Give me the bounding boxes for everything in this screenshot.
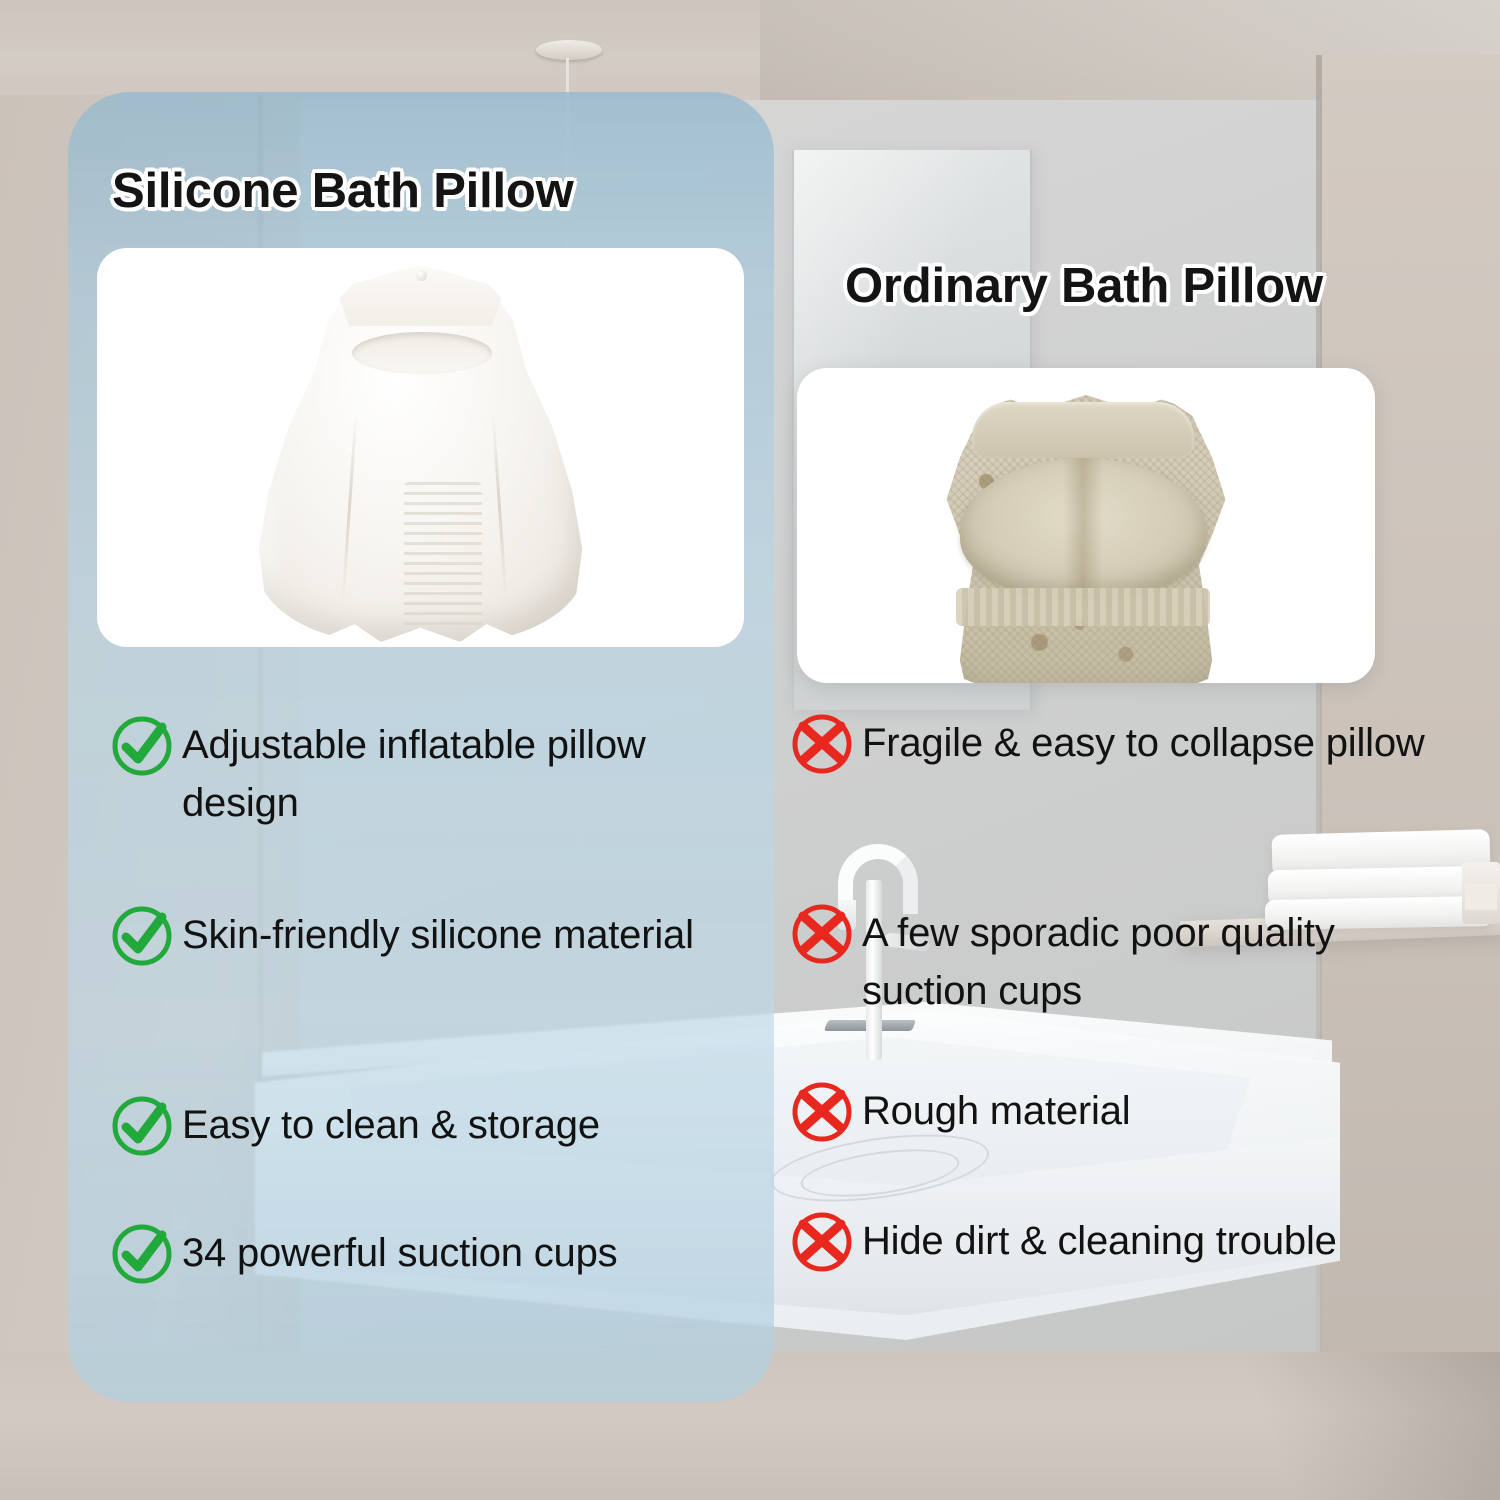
floor-shadow	[1180, 1352, 1500, 1500]
list-item: Adjustable inflatable pillow design	[108, 716, 748, 832]
silicone-pillow-photo-card	[97, 248, 744, 647]
pillow-air-valve	[416, 270, 427, 281]
list-item-label: 34 powerful suction cups	[182, 1224, 617, 1282]
list-item-label: Adjustable inflatable pillow design	[182, 716, 748, 832]
ceiling-lamp-mount	[536, 40, 602, 60]
list-item: Fragile & easy to collapse pillow	[800, 714, 1460, 778]
list-item-label: Easy to clean & storage	[182, 1096, 600, 1154]
ordinary-bath-pillow-image	[916, 392, 1256, 683]
check-icon	[108, 1092, 176, 1160]
ordinary-pillow-photo-card	[797, 368, 1375, 683]
pillow-ribbed-texture	[404, 482, 482, 630]
list-item-label: A few sporadic poor quality suction cups	[862, 904, 1460, 1020]
check-icon	[108, 902, 176, 970]
cross-icon	[788, 900, 856, 968]
list-item: Skin-friendly silicone material	[108, 906, 748, 970]
list-item-label: Skin-friendly silicone material	[182, 906, 694, 964]
list-item: Hide dirt & cleaning trouble	[800, 1212, 1460, 1276]
left-column-title: Silicone Bath Pillow	[112, 163, 574, 219]
cross-icon	[788, 1078, 856, 1146]
toiletry-bottle	[1462, 862, 1500, 924]
right-column-title: Ordinary Bath Pillow	[845, 258, 1323, 314]
pillow-cushion	[960, 458, 1206, 598]
cross-icon	[788, 710, 856, 778]
list-item-label: Rough material	[862, 1082, 1130, 1140]
list-item-label: Hide dirt & cleaning trouble	[862, 1212, 1337, 1270]
cross-icon	[788, 1208, 856, 1276]
pillow-mesh-band	[956, 588, 1210, 626]
silicone-bath-pillow-image	[256, 262, 586, 642]
list-item-label: Fragile & easy to collapse pillow	[862, 714, 1425, 772]
list-item: A few sporadic poor quality suction cups	[800, 904, 1460, 1020]
list-item: Rough material	[800, 1082, 1460, 1146]
pillow-head-dish	[352, 332, 492, 374]
list-item: 34 powerful suction cups	[108, 1224, 748, 1288]
check-icon	[108, 712, 176, 780]
bottle-label	[1465, 884, 1497, 910]
check-icon	[108, 1220, 176, 1288]
list-item: Easy to clean & storage	[108, 1096, 748, 1160]
pillow-top-rim	[972, 402, 1194, 458]
